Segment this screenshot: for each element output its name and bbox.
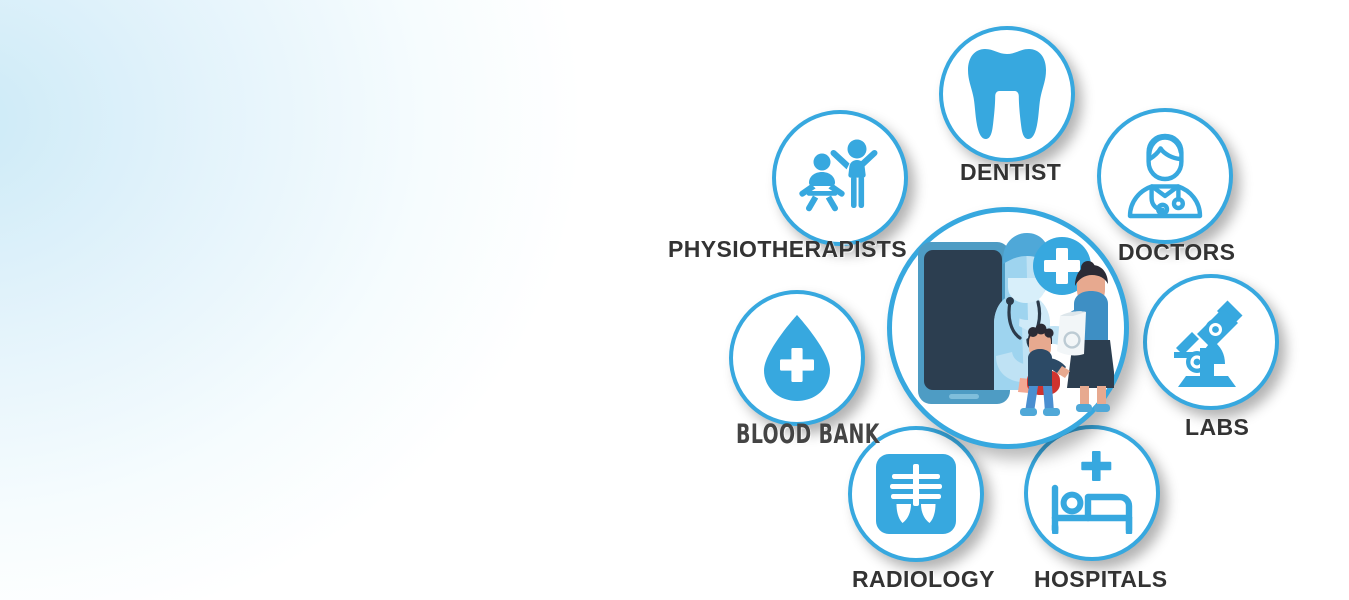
node-center-telemedicine[interactable] [887, 207, 1129, 449]
node-labs[interactable] [1143, 274, 1279, 410]
doctor-icon [1118, 132, 1212, 220]
telemedicine-bubble[interactable] [887, 207, 1129, 449]
label-radiology: RADIOLOGY [852, 566, 995, 593]
label-hospitals: HOSPITALS [1034, 566, 1168, 593]
tooth-icon [967, 48, 1047, 140]
background-artifact [660, 338, 693, 470]
dentist-bubble[interactable] [939, 26, 1075, 162]
label-labs: LABS [1185, 414, 1249, 441]
blood-drop-icon [762, 314, 832, 402]
hospital-bed-icon [1046, 450, 1138, 536]
node-dentist[interactable] [939, 26, 1075, 162]
microscope-icon [1166, 296, 1256, 388]
label-doctors: DOCTORS [1118, 239, 1235, 266]
label-blood-bank: BLOOD BANK [736, 419, 880, 450]
label-dentist: DENTIST [960, 159, 1061, 186]
physiotherapy-icon [797, 136, 883, 220]
node-blood-bank[interactable] [729, 290, 865, 426]
infographic-canvas: PHYSIOTHERAPISTS DENTIST [0, 0, 1349, 600]
label-physiotherapists: PHYSIOTHERAPISTS [668, 236, 907, 263]
blood-bank-bubble[interactable] [729, 290, 865, 426]
labs-bubble[interactable] [1143, 274, 1279, 410]
telemedicine-illustration [902, 228, 1114, 428]
xray-icon [876, 454, 956, 534]
